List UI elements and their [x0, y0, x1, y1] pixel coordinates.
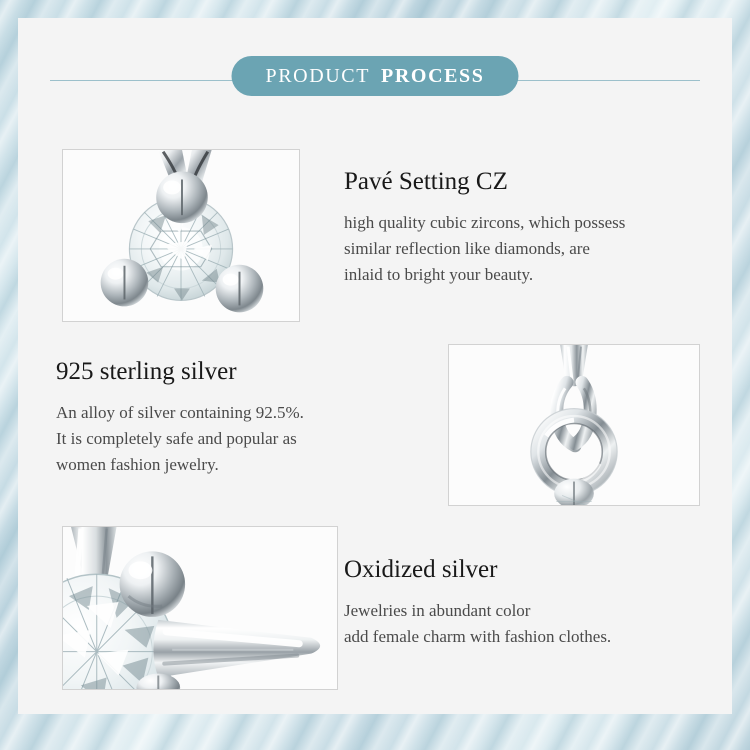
- feature-body-line: inlaid to bright your beauty.: [344, 262, 712, 288]
- feature-body: Jewelries in abundant color add female c…: [344, 598, 712, 651]
- feature-body-line: Jewelries in abundant color: [344, 598, 712, 624]
- section-header: PRODUCT PROCESS: [18, 56, 732, 106]
- header-rule-right: [506, 80, 700, 81]
- feature-body-line: An alloy of silver containing 92.5%.: [56, 400, 416, 426]
- header-title-regular: PRODUCT: [265, 65, 370, 88]
- photo-925-sterling-silver: [448, 344, 700, 506]
- feature-body: high quality cubic zircons, which posses…: [344, 210, 712, 289]
- feature-title: Pavé Setting CZ: [344, 168, 712, 196]
- header-pill: PRODUCT PROCESS: [231, 56, 518, 96]
- content-card: PRODUCT PROCESS: [18, 18, 732, 714]
- feature-text-925-sterling-silver: 925 sterling silver An alloy of silver c…: [56, 358, 416, 479]
- feature-body-line: high quality cubic zircons, which posses…: [344, 210, 712, 236]
- feature-body-line: add female charm with fashion clothes.: [344, 624, 712, 650]
- feature-title: Oxidized silver: [344, 556, 712, 584]
- header-rule-left: [50, 80, 244, 81]
- feature-body-line: similar reflection like diamonds, are: [344, 236, 712, 262]
- photo-pave-setting-cz: [62, 149, 300, 322]
- feature-title: 925 sterling silver: [56, 358, 416, 386]
- oxidized-silver-illustration: [63, 527, 337, 689]
- product-process-infographic: PRODUCT PROCESS: [0, 0, 750, 750]
- feature-body-line: It is completely safe and popular as: [56, 426, 416, 452]
- feature-body-line: women fashion jewelry.: [56, 452, 416, 478]
- feature-text-pave-setting-cz: Pavé Setting CZ high quality cubic zirco…: [344, 168, 712, 289]
- feature-text-oxidized-silver: Oxidized silver Jewelries in abundant co…: [344, 556, 712, 650]
- feature-body: An alloy of silver containing 92.5%. It …: [56, 400, 416, 479]
- jump-ring-illustration: [449, 345, 699, 505]
- header-title-bold: PROCESS: [381, 65, 484, 88]
- photo-oxidized-silver: [62, 526, 338, 690]
- pave-setting-illustration: [63, 150, 299, 321]
